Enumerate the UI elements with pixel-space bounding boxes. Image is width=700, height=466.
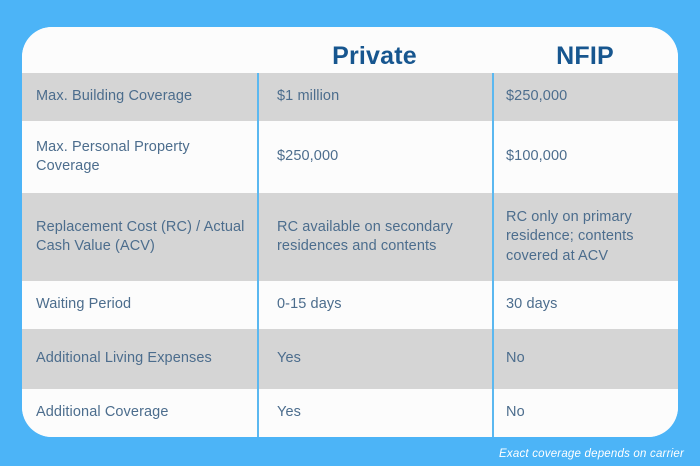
header-cell-private: Private	[257, 42, 492, 71]
header-cell-nfip: NFIP	[492, 42, 678, 71]
table-row: Replacement Cost (RC) / Actual Cash Valu…	[22, 193, 678, 281]
column-divider-2	[492, 281, 494, 329]
row-value-nfip: $250,000	[492, 87, 678, 106]
column-divider-1	[257, 281, 259, 329]
row-value-nfip: $100,000	[492, 147, 678, 166]
comparison-table: Private NFIP Max. Building Coverage $1 m…	[22, 27, 678, 437]
column-divider-1	[257, 73, 259, 121]
row-value-private: Yes	[257, 349, 492, 368]
table-row: Waiting Period 0-15 days 30 days	[22, 281, 678, 329]
row-value-private: Yes	[257, 403, 492, 422]
column-divider-1	[257, 193, 259, 281]
column-divider-1	[257, 329, 259, 389]
table-header-row: Private NFIP	[22, 27, 678, 73]
column-divider-2	[492, 389, 494, 437]
footnote-text: Exact coverage depends on carrier	[499, 448, 684, 460]
row-value-private: 0-15 days	[257, 295, 492, 314]
table-row: Additional Living Expenses Yes No	[22, 329, 678, 389]
row-value-private: $250,000	[257, 147, 492, 166]
row-value-nfip: 30 days	[492, 295, 678, 314]
row-label: Replacement Cost (RC) / Actual Cash Valu…	[22, 218, 257, 257]
column-divider-2	[492, 121, 494, 193]
table-row: Max. Building Coverage $1 million $250,0…	[22, 73, 678, 121]
table-row: Max. Personal Property Coverage $250,000…	[22, 121, 678, 193]
column-divider-2	[492, 329, 494, 389]
table-row: Additional Coverage Yes No	[22, 389, 678, 437]
row-value-nfip: RC only on primary residence; contents c…	[492, 208, 678, 266]
row-label: Additional Coverage	[22, 403, 257, 422]
row-label: Max. Building Coverage	[22, 87, 257, 106]
column-divider-2	[492, 193, 494, 281]
column-divider-2	[492, 73, 494, 121]
column-divider-1	[257, 389, 259, 437]
row-value-private: $1 million	[257, 87, 492, 106]
row-value-nfip: No	[492, 403, 678, 422]
row-value-nfip: No	[492, 349, 678, 368]
row-label: Max. Personal Property Coverage	[22, 138, 257, 177]
comparison-card: Private NFIP Max. Building Coverage $1 m…	[22, 27, 678, 437]
column-divider-1	[257, 121, 259, 193]
row-value-private: RC available on secondary residences and…	[257, 218, 492, 257]
row-label: Additional Living Expenses	[22, 349, 257, 368]
row-label: Waiting Period	[22, 295, 257, 314]
